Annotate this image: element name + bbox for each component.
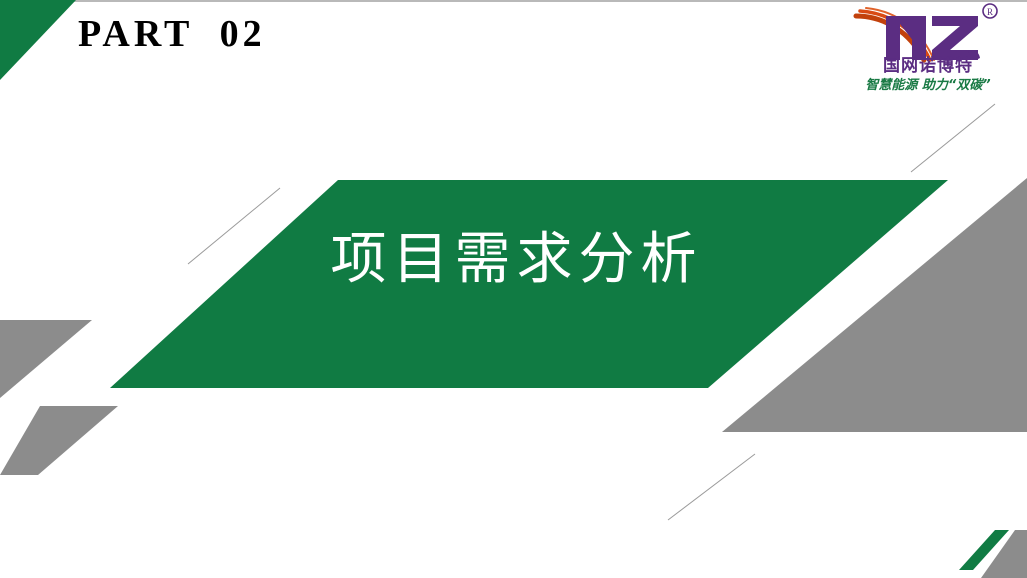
logo-company-name: 国网诺博特 [838,56,1018,76]
hairline-upper-right [905,98,1005,178]
slide-canvas: PART 02 项目需求分析 [0,0,1027,578]
svg-text:R: R [987,7,993,17]
left-gray-triangle [0,310,100,400]
bottom-right-corner-accent [955,528,1027,578]
logo-tagline: 智慧能源 助力“双碳” [838,78,1018,94]
left-gray-stripe [0,395,130,485]
hairline-lower-center [660,448,765,528]
nz-monogram-icon: R [850,2,1010,64]
company-logo: R 国网诺博特 智慧能源 助力“双碳” [838,2,1018,100]
page-title: 项目需求分析 [0,228,1027,292]
right-gray-triangle [690,160,1027,445]
section-number-label: PART 02 [78,12,266,58]
